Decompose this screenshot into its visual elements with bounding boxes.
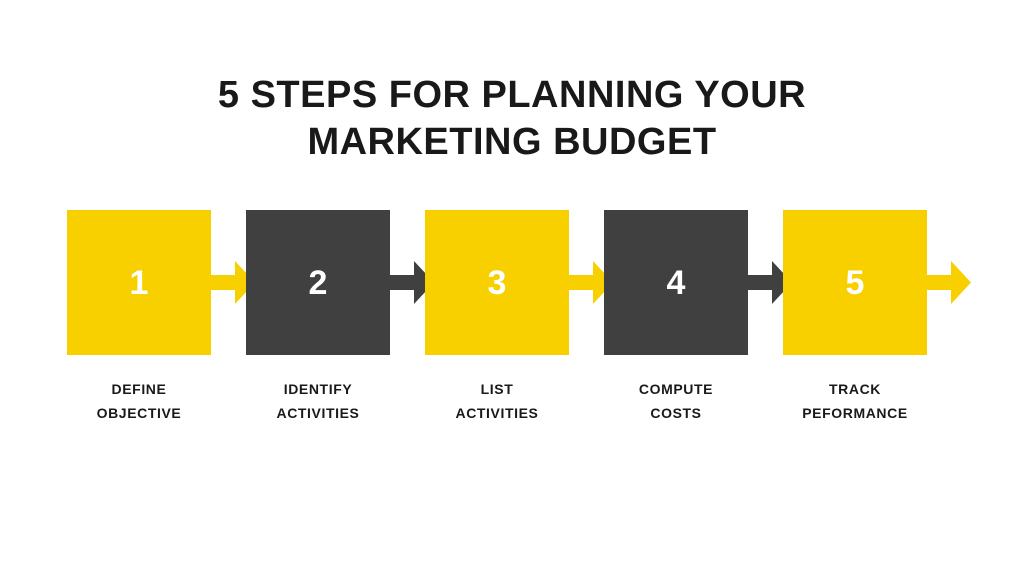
step-box-2[interactable]: 2 [246,210,390,355]
step-box-1[interactable]: 1 [67,210,211,355]
step-number-2: 2 [309,266,328,300]
step-number-3: 3 [488,266,507,300]
page-title: 5 STEPS FOR PLANNING YOUR MARKETING BUDG… [0,72,1024,166]
process-step-3[interactable]: 3 LIST ACTIVITIES [425,210,569,355]
step-box-4[interactable]: 4 [604,210,748,355]
step-caption-4: COMPUTE COSTS [586,377,766,425]
process-step-1[interactable]: 1 DEFINE OBJECTIVE [67,210,211,355]
process-step-5[interactable]: 5 TRACK PEFORMANCE [783,210,927,355]
step-number-4: 4 [667,266,686,300]
step-caption-3: LIST ACTIVITIES [407,377,587,425]
arrow-icon-5 [927,260,971,305]
process-steps-row: 1 DEFINE OBJECTIVE 2 IDENTIFY ACTIVIT [67,210,967,420]
step-caption-2: IDENTIFY ACTIVITIES [228,377,408,425]
step-number-1: 1 [130,266,149,300]
infographic-slide: 5 STEPS FOR PLANNING YOUR MARKETING BUDG… [0,0,1024,576]
process-step-4[interactable]: 4 COMPUTE COSTS [604,210,748,355]
step-caption-5: TRACK PEFORMANCE [765,377,945,425]
step-box-3[interactable]: 3 [425,210,569,355]
step-box-5[interactable]: 5 [783,210,927,355]
process-step-2[interactable]: 2 IDENTIFY ACTIVITIES [246,210,390,355]
step-number-5: 5 [846,266,865,300]
step-caption-1: DEFINE OBJECTIVE [49,377,229,425]
